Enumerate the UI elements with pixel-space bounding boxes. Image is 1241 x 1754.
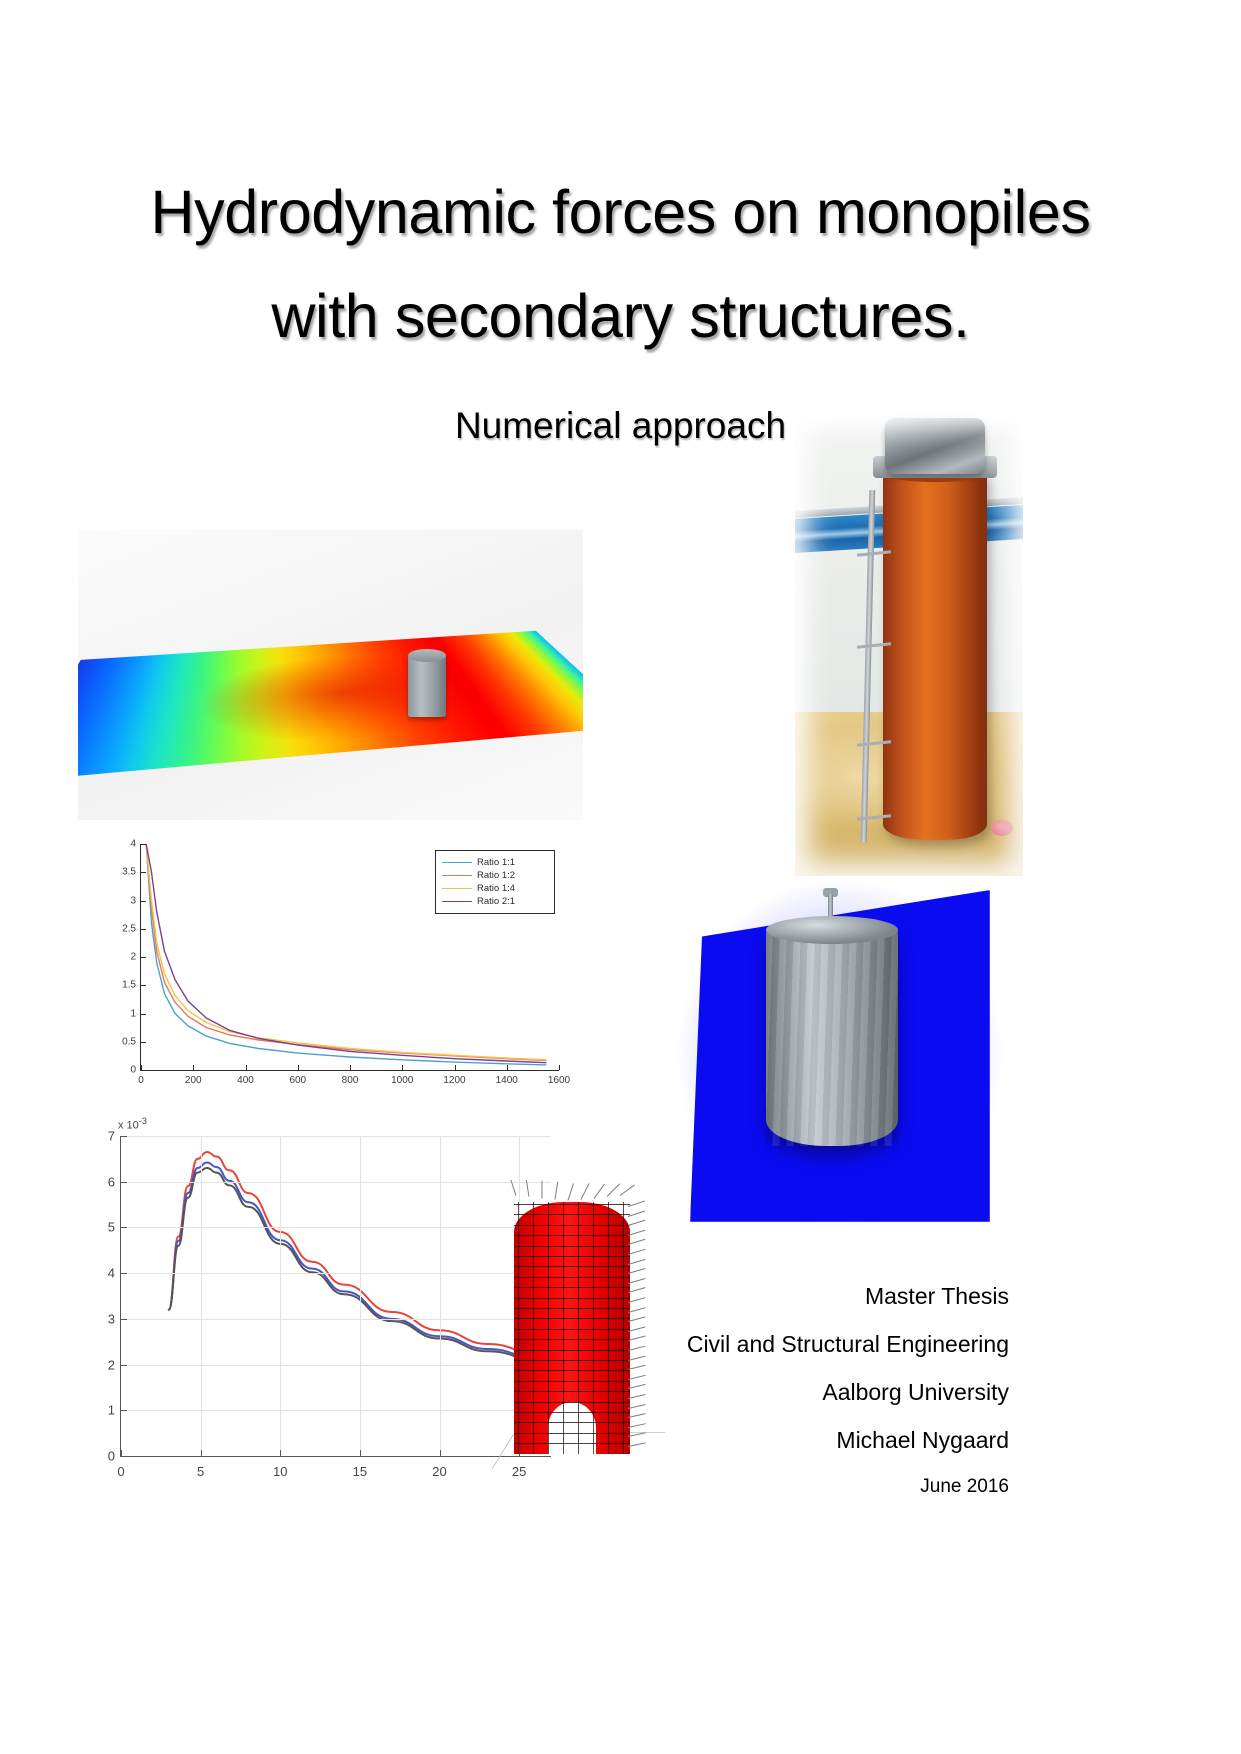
chart2-x-tick bbox=[280, 1450, 281, 1456]
author-block: Master Thesis Civil and Structural Engin… bbox=[529, 1272, 1009, 1510]
chart2-x-tick bbox=[440, 1450, 441, 1456]
chart1-legend-item: Ratio 1:1 bbox=[442, 856, 548, 869]
pressure-vector bbox=[581, 1183, 590, 1200]
chart1-y-tick-label: 1.5 bbox=[122, 980, 136, 991]
chart2-y-tick-label: 5 bbox=[108, 1220, 115, 1235]
pressure-vector bbox=[628, 1249, 646, 1255]
chart2-gridline-h bbox=[121, 1365, 551, 1366]
chart2-gridline-h bbox=[121, 1182, 551, 1183]
chart1-y-tick-label: 1 bbox=[130, 1008, 136, 1019]
chart1-x-tick bbox=[455, 1065, 456, 1070]
pressure-vector bbox=[607, 1184, 621, 1198]
chart1-legend: Ratio 1:1Ratio 1:2Ratio 1:4Ratio 2:1 bbox=[435, 850, 555, 914]
chart2-x-tick-label: 0 bbox=[117, 1464, 124, 1479]
chart2-gridline-v bbox=[360, 1136, 361, 1456]
chart1-x-tick bbox=[298, 1065, 299, 1070]
render-monopile bbox=[766, 928, 898, 1146]
chart2-gridline-v bbox=[201, 1136, 202, 1456]
chart2-y-tick bbox=[121, 1136, 127, 1137]
chart1-y-tick bbox=[141, 1070, 146, 1071]
chart1-x-tick-label: 0 bbox=[138, 1075, 144, 1086]
mesh-hoop-line bbox=[514, 1225, 630, 1226]
chart1-x-tick bbox=[402, 1065, 403, 1070]
institution-label: Aalborg University bbox=[529, 1368, 1009, 1416]
chart1-x-tick-label: 800 bbox=[342, 1075, 359, 1086]
cover-page: Hydrodynamic forces on monopiles with se… bbox=[0, 0, 1241, 1754]
chart2-x-tick-label: 5 bbox=[197, 1464, 204, 1479]
chart1-legend-swatch bbox=[442, 862, 472, 864]
chart1-x-tick-label: 600 bbox=[289, 1075, 306, 1086]
pressure-vector bbox=[526, 1180, 530, 1197]
pressure-vector bbox=[628, 1239, 646, 1245]
chart1-legend-item: Ratio 1:4 bbox=[442, 882, 548, 895]
chart2-y-tick bbox=[121, 1182, 127, 1183]
mesh-hoop-line bbox=[514, 1266, 630, 1267]
chart2-x-tick bbox=[360, 1450, 361, 1456]
render-monopile-top bbox=[766, 916, 898, 944]
chart1-x-tick bbox=[193, 1065, 194, 1070]
chart1-x-tick-label: 1600 bbox=[548, 1075, 570, 1086]
chart2-gridline-v bbox=[440, 1136, 441, 1456]
chart1-legend-item: Ratio 1:2 bbox=[442, 869, 548, 882]
chart2-y-tick-label: 7 bbox=[108, 1129, 115, 1144]
chart1-y-tick-label: 4 bbox=[130, 839, 136, 850]
chart1-y-tick-label: 2 bbox=[130, 952, 136, 963]
chart2-y-tick bbox=[121, 1410, 127, 1411]
author-name: Michael Nygaard bbox=[529, 1416, 1009, 1464]
figure-3d-mesh-render bbox=[668, 880, 1008, 1228]
chart2-y-tick bbox=[121, 1319, 127, 1320]
chart2-y-tick-label: 3 bbox=[108, 1311, 115, 1326]
chart1-y-tick bbox=[141, 901, 146, 902]
chart1-legend-label: Ratio 1:4 bbox=[477, 883, 515, 894]
chart1-y-tick-label: 2.5 bbox=[122, 923, 136, 934]
chart1-y-tick bbox=[141, 929, 146, 930]
pressure-vector bbox=[628, 1259, 646, 1265]
chart2-y-tick-label: 6 bbox=[108, 1174, 115, 1189]
chart2-y-tick-label: 1 bbox=[108, 1403, 115, 1418]
chart2-y-tick-label: 4 bbox=[108, 1266, 115, 1281]
chart2-gridline-h bbox=[121, 1410, 551, 1411]
chart1-axes: Ratio 1:1Ratio 1:2Ratio 1:4Ratio 2:1 020… bbox=[140, 844, 559, 1071]
chart1-y-tick-label: 0.5 bbox=[122, 1036, 136, 1047]
chart2-y-tick bbox=[121, 1365, 127, 1366]
chart2-x-tick bbox=[201, 1450, 202, 1456]
chart1-y-tick bbox=[141, 1014, 146, 1015]
page-subtitle: Numerical approach bbox=[0, 403, 1241, 449]
render-mesh-facets bbox=[766, 928, 898, 1146]
chart2-gridline-v bbox=[280, 1136, 281, 1456]
chart1-x-tick-label: 1000 bbox=[391, 1075, 413, 1086]
programme-label: Civil and Structural Engineering bbox=[529, 1320, 1009, 1368]
figure-cfd-free-surface bbox=[78, 530, 583, 820]
chart1-x-tick bbox=[246, 1065, 247, 1070]
chart1-x-tick bbox=[559, 1065, 560, 1070]
chart1-legend-label: Ratio 2:1 bbox=[477, 896, 515, 907]
pressure-vector bbox=[628, 1200, 645, 1207]
figure-laboratory-monopile-photo bbox=[795, 412, 1023, 876]
chart1-legend-label: Ratio 1:2 bbox=[477, 870, 515, 881]
mesh-axial-line bbox=[518, 1202, 519, 1454]
chart1-y-tick bbox=[141, 985, 146, 986]
chart1-x-tick-label: 400 bbox=[237, 1075, 254, 1086]
cfd-monopile-body bbox=[408, 655, 446, 717]
chart2-gridline-h bbox=[121, 1319, 551, 1320]
mesh-hoop-line bbox=[514, 1235, 630, 1236]
chart1-y-tick-label: 3.5 bbox=[122, 867, 136, 878]
chart2-y-tick bbox=[121, 1273, 127, 1274]
chart2-gridline-h bbox=[121, 1273, 551, 1274]
chart2-exponent-power: -3 bbox=[139, 1116, 147, 1126]
pressure-vector bbox=[541, 1180, 542, 1198]
chart1-legend-swatch bbox=[442, 875, 472, 877]
degree-label: Master Thesis bbox=[529, 1272, 1009, 1320]
pressure-vector bbox=[628, 1220, 645, 1226]
chart2-x-tick-label: 20 bbox=[432, 1464, 446, 1479]
pressure-vector bbox=[554, 1181, 558, 1199]
chart1-x-tick bbox=[507, 1065, 508, 1070]
pressure-vector bbox=[594, 1183, 605, 1198]
chart1-legend-label: Ratio 1:1 bbox=[477, 857, 515, 868]
chart2-y-tick bbox=[121, 1227, 127, 1228]
pressure-vector bbox=[510, 1180, 517, 1196]
pressure-vector bbox=[620, 1185, 635, 1196]
chart1-legend-item: Ratio 2:1 bbox=[442, 895, 548, 908]
mesh-hoop-line bbox=[514, 1214, 630, 1215]
chart1-legend-swatch bbox=[442, 901, 472, 903]
chart1-x-tick-label: 1400 bbox=[496, 1075, 518, 1086]
title-line-2: with secondary structures. bbox=[0, 264, 1241, 368]
pressure-vector bbox=[628, 1229, 646, 1235]
chart1-y-tick bbox=[141, 1042, 146, 1043]
chart2-gridline-h bbox=[121, 1136, 551, 1137]
chart2-x-tick-label: 15 bbox=[353, 1464, 367, 1479]
mesh-hoop-line bbox=[514, 1256, 630, 1257]
chart1-x-tick bbox=[350, 1065, 351, 1070]
mesh-hoop-line bbox=[514, 1204, 630, 1205]
cfd-monopile-top bbox=[408, 649, 446, 662]
chart2-y-tick-label: 0 bbox=[108, 1449, 115, 1464]
chart2-y-tick bbox=[121, 1456, 127, 1457]
chart1-y-tick-label: 0 bbox=[130, 1065, 136, 1076]
chart-convergence-plot: Ratio 1:1Ratio 1:2Ratio 1:4Ratio 2:1 020… bbox=[78, 828, 583, 1110]
chart1-legend-swatch bbox=[442, 888, 472, 890]
chart1-y-tick bbox=[141, 872, 146, 873]
chart1-x-tick-label: 1200 bbox=[443, 1075, 465, 1086]
chart2-exponent-base: x 10 bbox=[118, 1120, 139, 1132]
chart1-x-tick-label: 200 bbox=[185, 1075, 202, 1086]
title-line-1: Hydrodynamic forces on monopiles bbox=[0, 160, 1241, 264]
chart1-y-tick bbox=[141, 844, 146, 845]
date-label: June 2016 bbox=[529, 1464, 1009, 1510]
chart2-y-tick-label: 2 bbox=[108, 1357, 115, 1372]
pressure-vector bbox=[567, 1183, 574, 1200]
chart1-y-tick bbox=[141, 957, 146, 958]
chart2-x-tick-label: 10 bbox=[273, 1464, 287, 1479]
mesh-hoop-line bbox=[514, 1246, 630, 1247]
chart2-gridline-h bbox=[121, 1227, 551, 1228]
chart1-y-tick-label: 3 bbox=[130, 895, 136, 906]
chart2-axis-exponent: x 10-3 bbox=[118, 1116, 147, 1132]
page-title: Hydrodynamic forces on monopiles with se… bbox=[0, 160, 1241, 368]
photo-vignette bbox=[795, 412, 1023, 876]
chart2-series-canvas bbox=[121, 1136, 551, 1456]
chart2-axes: 051015202501234567 bbox=[120, 1136, 551, 1457]
pressure-vector bbox=[628, 1210, 645, 1217]
